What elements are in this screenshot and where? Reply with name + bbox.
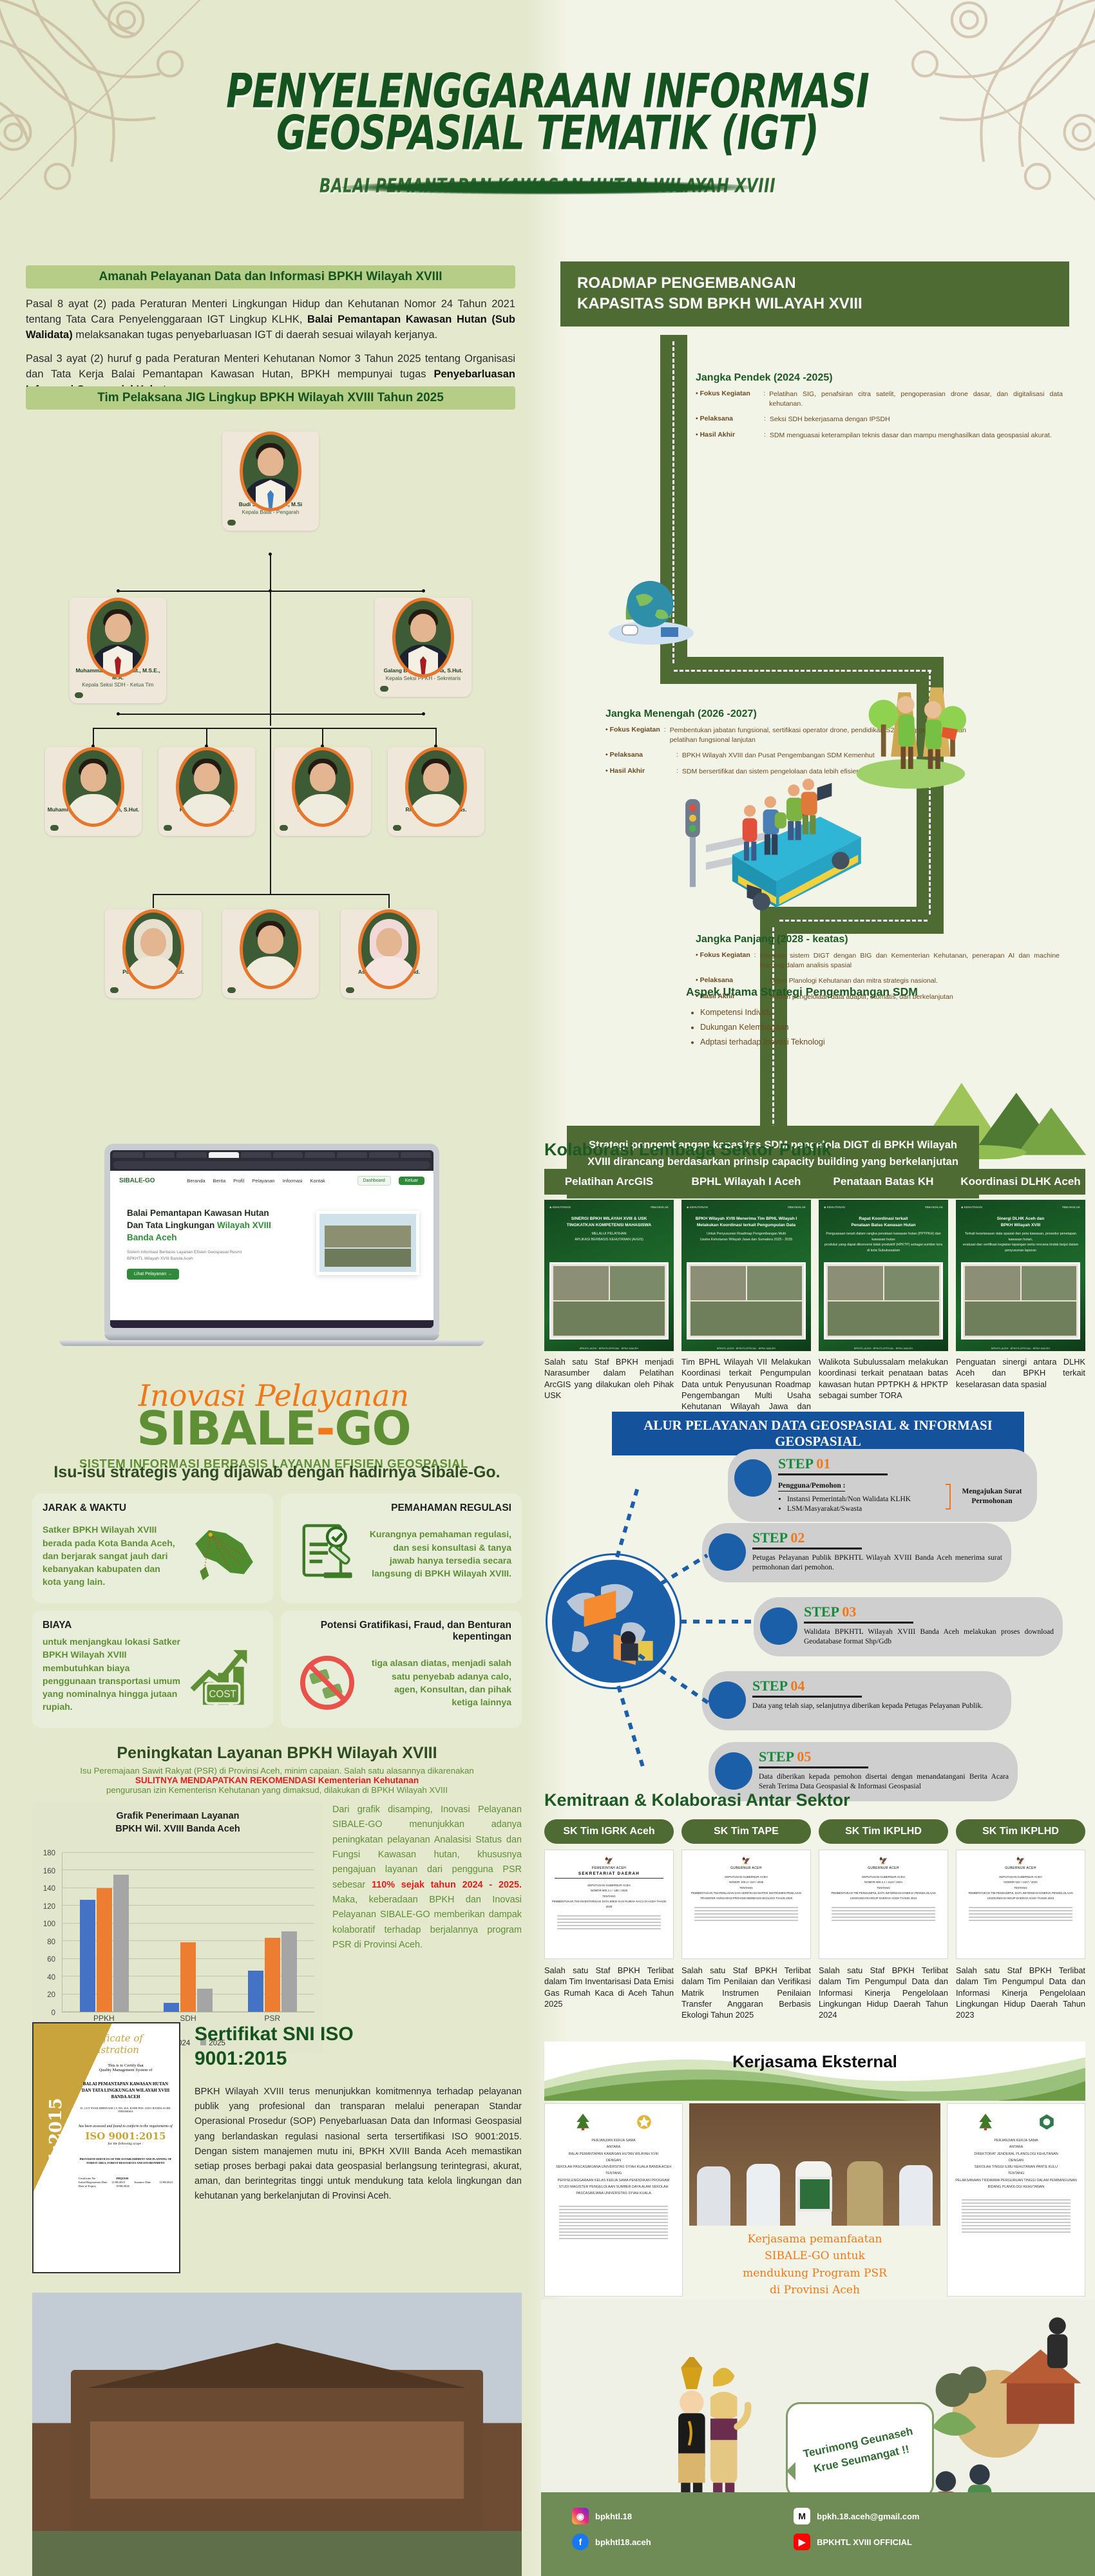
step-body: Walidata BPKHTL Wilayah XVIII Banda Aceh…: [804, 1627, 1054, 1647]
nav-kontak[interactable]: Kontak: [310, 1178, 325, 1184]
facebook-icon: f: [572, 2533, 589, 2550]
doc-line: KEPUTUSAN GUBERNUR ACEH: [688, 1875, 805, 1880]
avatar: [62, 747, 124, 827]
kolaborasi-poster: ◈ KEHUTANAN#BerAKHLAKRapat Koordinasi te…: [819, 1200, 948, 1351]
poster-photos: [824, 1262, 943, 1340]
kemitraan-caption: Salah satu Staf BPKH Terlibat dalam Tim …: [819, 1965, 948, 2020]
certificate-scope-label: for the following scope :: [79, 2142, 173, 2146]
kemenhut-logo-icon: ◈ KEHUTANAN: [961, 1206, 982, 1209]
mou-line: TENTANG: [955, 2170, 1077, 2177]
chart-ytick: 100: [43, 1920, 55, 1928]
isu-card-body: Kurangnya pemahaman regulasi, dan sesi k…: [367, 1528, 511, 1580]
hero-paragraph: Sistem Informasi Berbasis Layanan Efisie…: [127, 1249, 278, 1263]
avatar: [122, 909, 184, 989]
central-globe-icon: [547, 1555, 680, 1687]
chart-title: Grafik Penerimaan LayananBPKH Wil. XVIII…: [39, 1810, 317, 1835]
roadmap-section: ROADMAP PENGEMBANGANKAPASITAS SDM BPKH W…: [560, 261, 1069, 327]
chart-ytick: 180: [43, 1850, 55, 1857]
social-facebook[interactable]: f bpkhtl18.aceh: [572, 2533, 787, 2550]
roadmap-heading: ROADMAP PENGEMBANGANKAPASITAS SDM BPKH W…: [560, 261, 1069, 327]
bar-chart: Grafik Penerimaan LayananBPKH Wil. XVIII…: [32, 1803, 323, 2054]
browser-url-bar[interactable]: [113, 1161, 430, 1169]
isu-card-title: PEMAHAMAN REGULASI: [291, 1502, 511, 1514]
team-heading: Tim Pelaksana JIG Lingkup BPKH Wilayah X…: [26, 386, 515, 410]
kemitraan-document: 🦅PEMERINTAH ACEHSEKRETARIAT DAERAHKEPUTU…: [544, 1850, 674, 1959]
member-role: Kepala Seksi SDH - Ketua Tim: [70, 682, 166, 688]
office-building-icon: [709, 1533, 746, 1571]
step-label: STEP 03: [804, 1604, 1054, 1620]
avatar: [240, 431, 301, 511]
kolaborasi-poster: ◈ KEHUTANAN#BerAKHLAKBPKH Wilayah XVIII …: [681, 1200, 811, 1351]
document-gavel-icon: [291, 1518, 362, 1590]
garuda-emblem-icon: 🦅: [825, 1857, 942, 1865]
nav-berita[interactable]: Berita: [213, 1178, 226, 1184]
avatar: [292, 747, 354, 827]
team-heading-wrap: Tim Pelaksana JIG Lingkup BPKH Wilayah X…: [26, 386, 515, 410]
sibale-go-webpage: SIBALE-GO Beranda Berita Profil Pelayana…: [110, 1171, 433, 1320]
kolaborasi-chip: BPHL Wilayah I Aceh: [681, 1169, 811, 1195]
chart-bar: [197, 1989, 213, 2012]
gmail-icon: M: [794, 2508, 810, 2524]
doc-line: PEMBENTUKAN TIM INVENTARISASI DATA EMISI…: [551, 1899, 667, 1910]
org-node-member-4: Riandika Adam Firdaus. Anggota: [388, 747, 484, 836]
aspek-title: Aspek Utama Strategi Pengembangan SDM: [686, 985, 982, 999]
earth-sustainability-illustration: [603, 554, 700, 650]
title-underline-ellipse: [341, 180, 754, 194]
org-node-member-2: Rizky Syahputra, S.T. Anggota: [158, 747, 255, 836]
folder-document-icon: [709, 1681, 746, 1719]
layanan-heading: Peningkatan Layanan BPKH Wilayah XVIII: [32, 1744, 522, 1763]
handover-photo: Kerjasama pemanfaatan SIBALE-GO untuk me…: [689, 2103, 940, 2298]
doc-head-1: GUBERNUR ACEH: [688, 1866, 805, 1870]
sibale-go-wordmark-block: Inovasi Pelayanan SIBALE-GO SISTEM INFOR…: [71, 1378, 477, 1471]
office-building-photo: [32, 2293, 522, 2576]
avatar: [240, 909, 301, 989]
org-node-member-5: Putri Komalasari, S.Hut. Anggota: [105, 909, 202, 998]
pante-kulu-logo-icon: [1038, 2113, 1055, 2131]
isu-card-title: Potensi Gratifikasi, Fraud, dan Benturan…: [291, 1620, 511, 1643]
kehutanan-logo-icon: [977, 2113, 994, 2131]
chart-ytick: 20: [47, 1991, 55, 1999]
kemenhut-logo-icon: ◈ KEHUTANAN: [549, 1206, 571, 1209]
mou-line: SEKOLAH TINGGI ILMU KEHUTANAN PANTE KULU: [955, 2164, 1077, 2170]
step-bullet: Instansi Pemerintah/Non Walidata KLHK: [787, 1495, 940, 1504]
certificate-org: BALAI PEMANTAPAN KAWASAN HUTAN DAN TATA …: [79, 2081, 173, 2101]
kemitraan-document: 🦅GUBERNUR ACEHKEPUTUSAN GUBERNUR ACEHNOM…: [819, 1850, 948, 1959]
social-instagram[interactable]: ◉ bpkhtl.18: [572, 2508, 787, 2524]
lihat-pelayanan-button[interactable]: Lihat Pelayanan →: [127, 1269, 179, 1280]
layanan-sub1: Isu Peremajaan Sawit Rakyat (PSR) di Pro…: [32, 1766, 522, 1776]
mou-document-left: PERJANJIAN KERJA SAMA ANTARA BALAI PEMAN…: [544, 2103, 683, 2297]
roadmap-stage-jangka-pendek: Jangka Pendek (2024 -2025) • Fokus Kegia…: [696, 372, 1063, 440]
doc-line: TENTANG: [962, 1886, 1079, 1891]
org-node-member-3: Ahmad Muhajir, S.T. Anggota: [274, 747, 371, 836]
step-label: STEP 05: [759, 1748, 1009, 1765]
isu-card-gratifikasi: Potensi Gratifikasi, Fraud, dan Benturan…: [281, 1611, 522, 1728]
nav-informasi[interactable]: Informasi: [283, 1178, 303, 1184]
doc-line: NOMOR 522 / 1347 / 2023: [962, 1880, 1079, 1885]
step-body: Data diberikan kepada pemohon disertai d…: [759, 1772, 1009, 1792]
chart-bar-group: [80, 1853, 129, 2012]
step-label: STEP 01: [778, 1455, 1028, 1472]
group-photo-image: [316, 1211, 419, 1275]
certificate-side-text: 9001:2015: [39, 2023, 73, 2272]
mou-line: PENYELENGGARAAN KELAS KERJA SAMA PENDIDI…: [553, 2177, 674, 2197]
legal-mandate-panel: Amanah Pelayanan Data dan Informasi BPKH…: [26, 265, 515, 398]
doc-line: PEMBENTUKAN TIM PENILAIAN DAN VERIFIKASI…: [688, 1891, 805, 1902]
sibale-go-logo: SIBALE-GO: [119, 1177, 155, 1184]
nav-pelayanan[interactable]: Pelayanan: [252, 1178, 274, 1184]
social-handle: bpkhtl.18: [595, 2512, 632, 2521]
step-bullets: Instansi Pemerintah/Non Walidata KLHKLSM…: [787, 1495, 940, 1514]
org-node-member-7: Astia Nurhidayah, A.Md. Anggota: [341, 909, 437, 998]
avatar: [176, 747, 238, 827]
social-email[interactable]: M bpkh.18.aceh@gmail.com: [794, 2508, 1095, 2524]
dashboard-button[interactable]: Dashboard: [357, 1176, 391, 1186]
cert-exp-label: Date of Expiry: [79, 2184, 116, 2188]
aspek-item: Dukungan Kelembagaan: [700, 1020, 982, 1035]
mou-line: ANTARA: [955, 2144, 1077, 2150]
cert-issue-label: Issuance Date: [134, 2181, 159, 2184]
kolaborasi-card: Pelatihan ArcGIS◈ KEHUTANAN#BerAKHLAKSIN…: [544, 1169, 674, 1423]
kemitraan-chip: SK Tim IKPLHD: [956, 1819, 1085, 1844]
iso-body-text: BPKH Wilayah XVIII terus menunjukkan kom…: [195, 2085, 522, 2204]
certificate-title: Certificate of Registration: [79, 2032, 173, 2056]
poster-headline: Sinergi DLHK Aceh danBPKH Wilayah XVIIIT…: [961, 1216, 1080, 1253]
hero-heading: Balai Pemantapan Kawasan Hutan Dan Tata …: [127, 1207, 278, 1244]
nav-profil[interactable]: Profil: [233, 1178, 244, 1184]
chart-ytick: 60: [47, 1956, 55, 1964]
kemitraan-heading: Kemitraan & Kolaborasi Antar Sektor: [544, 1790, 1085, 1810]
nav-beranda[interactable]: Beranda: [187, 1178, 205, 1184]
chart-bar: [180, 1942, 196, 2012]
org-node-lead: Budi Setiawan, S.P., M.Si Kepala Balai -…: [222, 431, 319, 531]
certificate-conform: has been assessed and found to conform t…: [79, 2125, 173, 2128]
people-group-icon: [734, 1459, 772, 1497]
doc-line: NOMOR 600.4.1 / 1119 / 2024: [825, 1880, 942, 1885]
doc-line: NOMOR 100.3 / 310 / 2025: [688, 1880, 805, 1885]
handshake-idea-icon: [715, 1752, 752, 1790]
public-transport-illustration: [670, 773, 882, 934]
chart-bar-group: [164, 1853, 213, 2012]
berakhlak-logo-icon: #BerAKHLAK: [925, 1206, 943, 1209]
kemitraan-chip: SK Tim IKPLHD: [819, 1819, 948, 1844]
mou-line: PERJANJIAN KERJA SAMA: [553, 2137, 674, 2144]
step-head: Pengguna/Pemohon :: [778, 1481, 845, 1492]
isu-card-biaya: BIAYA untuk menjangkau lokasi Satker BPK…: [32, 1611, 273, 1728]
step-card-01: STEP 01Pengguna/Pemohon :Instansi Pemeri…: [728, 1449, 1037, 1522]
org-node-member-6: Ikram Reza, S.Si. Anggota: [222, 909, 319, 998]
isu-card-body: untuk menjangkau lokasi Satker BPKH Wila…: [43, 1635, 180, 1714]
poster-footer-handles: BPKHTL.ACEH · BPKHTLOFFICIAL · BPKH.18AC…: [819, 1347, 948, 1350]
kemitraan-card: SK Tim IGRK Aceh🦅PEMERINTAH ACEHSEKRETAR…: [544, 1819, 674, 2020]
mou-line: DENGAN: [553, 2157, 674, 2164]
instagram-icon: ◉: [572, 2508, 589, 2524]
doc-line: KEPUTUSAN GUBERNUR ACEH: [825, 1875, 942, 1880]
doc-line: KEPUTUSAN GUBERNUR ACEH: [551, 1883, 667, 1888]
kolaborasi-caption: Salah satu Staf BPKH menjadi Narasumber …: [544, 1356, 674, 1401]
social-youtube[interactable]: ▶ BPKHTL XVIII OFFICIAL: [794, 2533, 1095, 2550]
chart-ytick: 0: [52, 2009, 55, 2017]
doc-line: PEMBENTUKAN TIM PENGUMPUL DATA INFORMASI…: [825, 1891, 942, 1902]
isu-card-pemahaman-regulasi: PEMAHAMAN REGULASI Kurangnya pemahaman r…: [281, 1493, 522, 1603]
poster-headline: BPKH Wilayah XVIII Menerima Tim BPHL Wil…: [687, 1216, 806, 1242]
windows-taskbar[interactable]: [110, 1320, 433, 1328]
stage-key: Hasil Akhir: [610, 767, 645, 775]
poster-photos: [687, 1262, 806, 1340]
no-money-icon: [291, 1647, 363, 1719]
stage-value: Integrasi sistem DIGT dengan BIG dan Kem…: [760, 951, 1060, 971]
kolaborasi-poster: ◈ KEHUTANAN#BerAKHLAKSINERGI BPKH WILAYA…: [544, 1200, 674, 1351]
step-card-03: STEP 03Walidata BPKHTL Wilayah XVIII Ban…: [754, 1597, 1063, 1656]
step-body: Data yang telah siap, selanjutnya diberi…: [752, 1701, 1002, 1711]
chart-bar: [265, 1938, 280, 2012]
step-card-02: STEP 02Petugas Pelayanan Publik BPKHTL W…: [702, 1523, 1011, 1582]
poster-footer-handles: BPKHTL.ACEH · BPKHTLOFFICIAL · BPKH.18AC…: [544, 1347, 674, 1350]
social-handle: BPKHTL XVIII OFFICIAL: [817, 2537, 912, 2547]
chart-ytick: 160: [43, 1868, 55, 1875]
chart-bar: [281, 1931, 297, 2012]
kemitraan-card: SK Tim IKPLHD🦅GUBERNUR ACEHKEPUTUSAN GUB…: [819, 1819, 948, 2020]
org-node-ketua: Muhammad Yazid, S.Hut., M.S.E., M.A. Kep…: [70, 598, 166, 703]
kolaborasi-card: Koordinasi DLHK Aceh◈ KEHUTANAN#BerAKHLA…: [956, 1169, 1085, 1423]
stage-key: Hasil Akhir: [700, 431, 735, 439]
mou-line: BALAI PEMANTAPAN KAWASAN HUTAN WILAYAH X…: [553, 2151, 674, 2157]
avatar: [358, 909, 420, 989]
kemitraan-caption: Salah satu Staf BPKH Terlibat dalam Tim …: [681, 1965, 811, 2020]
step-side: Mengajukan Surat Permohonan: [956, 1487, 1028, 1506]
berakhlak-logo-icon: #BerAKHLAK: [1062, 1206, 1080, 1209]
chart-bar: [113, 1875, 129, 2012]
mou-line: PELAKSANAAN TRIDARMA PERGURUAN TINGGI DA…: [955, 2177, 1077, 2191]
chart-bar: [164, 2003, 179, 2012]
isu-card-jarak-waktu: JARAK & WAKTU Satker BPKH Wilayah XVIII …: [32, 1493, 273, 1603]
doc-head-1: GUBERNUR ACEH: [825, 1866, 942, 1870]
map-aceh-icon: [186, 1518, 263, 1594]
berakhlak-logo-icon: #BerAKHLAK: [651, 1206, 669, 1209]
kemitraan-section: Kemitraan & Kolaborasi Antar Sektor SK T…: [544, 1790, 1085, 2020]
mou-line: TENTANG: [553, 2170, 674, 2177]
sibale-go-wordmark: SIBALE-GO: [71, 1401, 477, 1455]
mou-line: ANTARA: [553, 2144, 674, 2150]
stage-value: Seksi SDH bekerjasama dengan IPSDH: [770, 415, 890, 424]
certificate-scope: PROVISION SERVICES OF THE ESTABLISHMENT …: [79, 2157, 173, 2166]
mou-line: DIREKTORAT JENDERAL PLANOLOGI KEHUTANAN: [955, 2151, 1077, 2157]
layanan-narrative: Dari grafik disamping, Inovasi Pelayanan…: [332, 1803, 522, 2054]
step-label: STEP 02: [752, 1529, 1002, 1546]
kolaborasi-section: Kolaborasi Lembaga Sektor Publik Pelatih…: [544, 1140, 1085, 1423]
kolaborasi-chip: Pelatihan ArcGIS: [544, 1169, 674, 1195]
kemenhut-logo-icon: ◈ KEHUTANAN: [824, 1206, 845, 1209]
doc-head-2: SEKRETARIAT DAERAH: [555, 1871, 663, 1879]
step-card-04: STEP 04Data yang telah siap, selanjutnya…: [702, 1671, 1011, 1730]
chart-ytick: 40: [47, 1974, 55, 1982]
doc-head-1: PEMERINTAH ACEH: [551, 1866, 667, 1870]
mou-document-right: PERJANJIAN KERJA SAMA ANTARA DIREKTORAT …: [947, 2103, 1085, 2297]
kolaborasi-poster: ◈ KEHUTANAN#BerAKHLAKSinergi DLHK Aceh d…: [956, 1200, 1085, 1351]
stage-key: Pelaksana: [610, 751, 643, 759]
certificate-standard: ISO 9001:2015: [79, 2130, 173, 2142]
doc-line: PEMBENTUKAN TIM PENGUMPUL DATA INFORMASI…: [962, 1891, 1079, 1902]
chart-bar: [248, 1971, 263, 2012]
chart-ytick: 140: [43, 1885, 55, 1893]
isu-heading: Isu-isu strategis yang dijawab dengan ha…: [32, 1463, 522, 1482]
social-handle: bpkh.18.aceh@gmail.com: [817, 2512, 919, 2521]
avatar: [87, 598, 149, 677]
aspek-item: Adptasi terhadap Inovasi Teknologi: [700, 1035, 982, 1050]
kolaborasi-card: Penataan Batas KH◈ KEHUTANAN#BerAKHLAKRa…: [819, 1169, 948, 1423]
doc-line: TENTANG: [825, 1886, 942, 1891]
poster-photos: [961, 1262, 1080, 1340]
chart-bar: [80, 1900, 95, 2012]
step-bullet: LSM/Masyarakat/Swasta: [787, 1504, 940, 1514]
berakhlak-logo-icon: #BerAKHLAK: [788, 1206, 806, 1209]
kolaborasi-chip: Penataan Batas KH: [819, 1169, 948, 1195]
kemitraan-card: SK Tim TAPE🦅GUBERNUR ACEHKEPUTUSAN GUBER…: [681, 1819, 811, 2020]
kemitraan-caption: Salah satu Staf BPKH Terlibat dalam Tim …: [544, 1965, 674, 2009]
mou-line: DENGAN: [955, 2157, 1077, 2164]
kolaborasi-caption: Walikota Subulussalam melakukan koordina…: [819, 1356, 948, 1401]
stage-value: SDM menguasai keterampilan teknis dasar …: [770, 431, 1052, 440]
kemenhut-logo-icon: ◈ KEHUTANAN: [687, 1206, 708, 1209]
org-node-sekretaris: Galang Bagus Cendana, S.Hut. Kepala Seks…: [375, 598, 471, 697]
workstation-icon: [760, 1607, 797, 1645]
browser-tab-bar[interactable]: [110, 1150, 433, 1159]
iso-certificate-image: 9001:2015 Certificate of Registration Th…: [32, 2022, 180, 2273]
stage-title: Jangka Pendek (2024 -2025): [696, 372, 1063, 384]
kerjasama-header-banner: Kerjasama Eksternal: [544, 2041, 1085, 2101]
step-body: Petugas Pelayanan Publik BPKHTL Wilayah …: [752, 1553, 1002, 1573]
cert-issue-value: 11/08/2023: [159, 2181, 173, 2184]
certificate-address: JL. CUT NYAK DHIEN KM 1.9, NO. 20A, KODE…: [79, 2107, 173, 2113]
isu-card-body: Satker BPKH Wilayah XVIII berada pada Ko…: [43, 1523, 180, 1588]
youtube-icon: ▶: [794, 2533, 810, 2550]
kerjasama-eksternal-section: Kerjasama Eksternal PERJANJIAN KERJA SAM…: [544, 2041, 1085, 2298]
doc-line: TENTANG: [551, 1894, 667, 1899]
stage-key: Pelaksana: [700, 976, 733, 984]
kerjasama-heading: Kerjasama Eksternal: [544, 2041, 1085, 2072]
stage-key: Pelaksana: [700, 415, 733, 422]
legal-heading: Amanah Pelayanan Data dan Informasi BPKH…: [26, 265, 515, 289]
aspek-item: Kompetensi Individu: [700, 1005, 982, 1020]
legal-paragraph-1: Pasal 8 ayat (2) pada Peraturan Menteri …: [26, 297, 515, 343]
avatar: [405, 747, 467, 827]
isu-card-body: tiga alasan diatas, menjadi salah satu p…: [368, 1656, 511, 1709]
poster-footer-handles: BPKHTL.ACEH · BPKHTLOFFICIAL · BPKH.18AC…: [956, 1347, 1085, 1350]
chart-bar-group: [248, 1853, 297, 2012]
step-label: STEP 04: [752, 1678, 1002, 1694]
iso-title: Sertifikat SNI ISO9001:2015: [195, 2022, 522, 2070]
mou-line: PERJANJIAN KERJA SAMA: [955, 2137, 1077, 2144]
peningkatan-layanan-section: Peningkatan Layanan BPKH Wilayah XVIII I…: [32, 1744, 522, 2054]
footer-contact-bar: ◉ bpkhtl.18 M bpkh.18.aceh@gmail.com f b…: [541, 2492, 1095, 2576]
usk-logo-icon: [636, 2113, 652, 2131]
stage-key: Fokus Kegiatan: [610, 726, 660, 734]
doc-line: KEPUTUSAN GUBERNUR ACEH: [962, 1875, 1079, 1880]
kolaborasi-card: BPHL Wilayah I Aceh◈ KEHUTANAN#BerAKHLAK…: [681, 1169, 811, 1423]
poster-footer: Teurimong Geunaseh Krue Seumangat !! ◉ b…: [541, 2299, 1095, 2576]
kerjasama-caption: Kerjasama pemanfaatan SIBALE-GO untuk me…: [689, 2231, 940, 2298]
cert-exp-value: 10/08/2026: [116, 2184, 129, 2188]
doc-head-1: GUBERNUR ACEH: [962, 1866, 1079, 1870]
kemitraan-chip: SK Tim IGRK Aceh: [544, 1819, 674, 1844]
isu-card-title: BIAYA: [43, 1620, 263, 1631]
layanan-sub3: pengurusan izin Kementerisn Kehutanan ya…: [32, 1785, 522, 1795]
cost-chart-icon: COST: [186, 1636, 263, 1712]
org-chart: Budi Setiawan, S.P., M.Si Kepala Balai -…: [26, 431, 515, 934]
kolaborasi-chip: Koordinasi DLHK Aceh: [956, 1169, 1085, 1195]
logout-button[interactable]: Keluar: [399, 1177, 424, 1185]
kolaborasi-caption: Penguatan sinergi antara DLHK Aceh dan B…: [956, 1356, 1085, 1390]
poster-header: PENYELENGGARAAN INFORMASI GEOSPASIAL TEM…: [0, 0, 1095, 258]
kemitraan-document: 🦅GUBERNUR ACEHKEPUTUSAN GUBERNUR ACEHNOM…: [681, 1850, 811, 1959]
org-node-member-1: Muhammad Kurnia Nasution, S.Hut. Anggota: [45, 747, 142, 836]
kemitraan-chip: SK Tim TAPE: [681, 1819, 811, 1844]
doc-line: NOMOR 500.4.1 / 185 / 2025: [551, 1888, 667, 1893]
kemitraan-card: SK Tim IKPLHD🦅GUBERNUR ACEHKEPUTUSAN GUB…: [956, 1819, 1085, 2020]
sibale-go-laptop-mockup: SIBALE-GO Beranda Berita Profil Pelayana…: [104, 1144, 439, 1346]
chart-ytick: 120: [43, 1903, 55, 1911]
mou-line: SEKOLAH PASCASARJANA UNIVERSITAS SYIAH K…: [553, 2164, 674, 2170]
page-title-line2: GEOSPASIAL TEMATIK (IGT): [33, 108, 1062, 159]
stage-value: Pelatihan SIG, penafsiran citra satelit,…: [769, 390, 1063, 409]
garuda-emblem-icon: 🦅: [962, 1857, 1079, 1865]
kemitraan-document: 🦅GUBERNUR ACEHKEPUTUSAN GUBERNUR ACEHNOM…: [956, 1850, 1085, 1959]
stage-key: Fokus Kegiatan: [700, 951, 750, 959]
poster-headline: SINERGI BPKH WILAYAH XVIII & USKTINGKATK…: [549, 1216, 669, 1242]
social-handle: bpkhtl18.aceh: [595, 2537, 651, 2547]
isu-card-title: JARAK & WAKTU: [43, 1502, 263, 1514]
kehutanan-logo-icon: [575, 2113, 591, 2131]
aspek-utama-block: Aspek Utama Strategi Pengembangan SDM Ko…: [686, 985, 982, 1050]
avatar: [392, 598, 454, 677]
doc-line: TENTANG: [688, 1886, 805, 1891]
kemitraan-caption: Salah satu Staf BPKH Terlibat dalam Tim …: [956, 1965, 1085, 2020]
chart-bar: [97, 1888, 112, 2012]
stage-title: Jangka Panjang (2028 - keatas): [696, 934, 1060, 945]
poster-headline: Rapat Koordinasi terkaitPenataan Batas K…: [824, 1216, 943, 1253]
kolaborasi-heading: Kolaborasi Lembaga Sektor Publik: [544, 1140, 1085, 1160]
poster-footer-handles: BPKHTL.ACEH · BPKHTLOFFICIAL · BPKH.18AC…: [681, 1347, 811, 1350]
garuda-emblem-icon: 🦅: [551, 1857, 667, 1865]
chart-ytick: 80: [47, 1938, 55, 1946]
iso-section: 9001:2015 Certificate of Registration Th…: [32, 2022, 522, 2273]
poster-photos: [549, 1262, 669, 1340]
certificate-line1: This is to Certify that: [79, 2063, 173, 2068]
layanan-sub2: SULITNYA MENDAPATKAN REKOMENDASI Kemente…: [32, 1776, 522, 1785]
svg-text:COST: COST: [209, 1689, 236, 1700]
certificate-line2: Quality Management System of: [79, 2068, 173, 2072]
stage-key: Fokus Kegiatan: [700, 390, 750, 397]
alur-pelayanan-steps: STEP 01Pengguna/Pemohon :Instansi Pemeri…: [541, 1449, 1095, 1810]
isu-strategis-section: Isu-isu strategis yang dijawab dengan ha…: [32, 1463, 522, 1728]
garuda-emblem-icon: 🦅: [688, 1857, 805, 1865]
